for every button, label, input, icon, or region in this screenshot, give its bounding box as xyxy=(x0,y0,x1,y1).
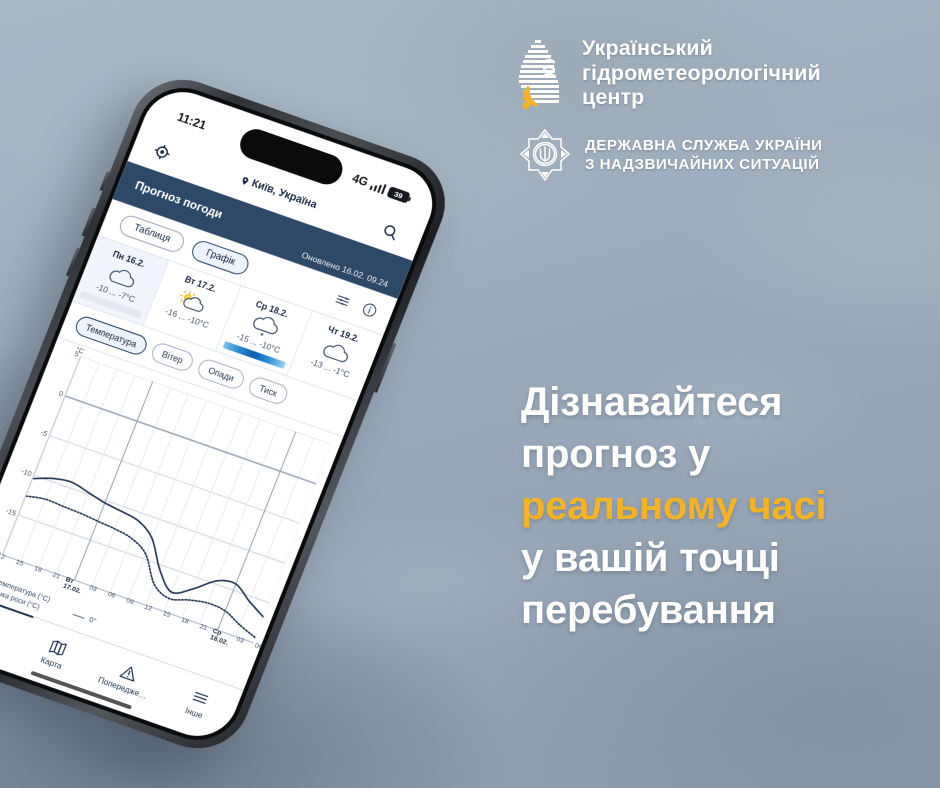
chip-pressure[interactable]: Тиск xyxy=(246,375,290,407)
warning-icon xyxy=(117,662,140,684)
info-circle-icon[interactable] xyxy=(360,300,380,319)
chip-precipitation[interactable]: Опади xyxy=(195,357,247,391)
x-tick-label: 18 xyxy=(180,617,190,626)
status-time: 11:21 xyxy=(175,111,207,132)
menu-icon xyxy=(189,687,212,709)
y-tick-label: -15 xyxy=(4,508,16,518)
org-title-line-2: гідрометеорологічний xyxy=(582,61,821,86)
y-tick-label: -10 xyxy=(20,468,32,478)
location-name: Київ, Україна xyxy=(250,177,319,211)
x-tick-label: 09 xyxy=(125,597,135,606)
marketing-headline: Дізнавайтеся прогноз у реальному часі у … xyxy=(521,376,933,636)
sliders-icon[interactable] xyxy=(333,291,353,310)
org-title: Український гідрометеорологічний центр xyxy=(582,36,821,110)
agency-line-1: ДЕРЖАВНА СЛУЖБА УКРАЇНИ xyxy=(585,137,823,156)
signal-strength-icon xyxy=(369,180,386,194)
headline-line-4: у вашій точці xyxy=(521,532,933,584)
network-type-label: 4G xyxy=(350,173,369,190)
headline-line-1: Дізнавайтеся xyxy=(521,376,933,428)
x-tick-label: 06 xyxy=(106,591,116,600)
x-tick-label: 12 xyxy=(143,604,153,613)
chip-wind[interactable]: Вітер xyxy=(149,341,196,374)
headline-line-5: перебування xyxy=(521,584,933,636)
uhmc-logo xyxy=(519,38,567,114)
agency-line-2: З НАДЗВИЧАЙНИХ СИТУАЦІЙ xyxy=(585,156,823,175)
org-title-line-3: центр xyxy=(582,85,821,110)
map-pin-icon xyxy=(238,174,251,187)
map-icon xyxy=(46,637,69,659)
search-icon[interactable] xyxy=(379,221,402,243)
legend-item-zero: 0° xyxy=(72,611,97,626)
x-tick-label: 21 xyxy=(198,623,208,632)
headline-line-3-accent: реальному часі xyxy=(521,480,933,532)
zero-line-swatch xyxy=(73,614,85,619)
x-tick-label: 15 xyxy=(162,610,172,619)
uhmc-brand-row: Український гідрометеорологічний центр xyxy=(519,36,919,114)
agency-name: ДЕРЖАВНА СЛУЖБА УКРАЇНИ З НАДЗВИЧАЙНИХ С… xyxy=(585,137,823,174)
dsns-brand-row: ДЕРЖАВНА СЛУЖБА УКРАЇНИ З НАДЗВИЧАЙНИХ С… xyxy=(519,128,919,184)
x-tick-label: 03 xyxy=(88,584,98,593)
tool-icons xyxy=(333,291,380,320)
crosshair-icon[interactable] xyxy=(151,141,174,163)
dsns-emblem xyxy=(519,128,571,184)
battery-icon: 39 xyxy=(387,186,411,204)
legend-label: 0° xyxy=(88,617,97,626)
nav-label: Інше xyxy=(184,706,204,720)
x-tick-label: 21 xyxy=(51,572,61,581)
x-tick-label: 18 xyxy=(33,565,43,574)
x-tick-label: 12 xyxy=(0,552,6,561)
x-tick-label: 06 xyxy=(253,642,263,651)
x-tick-label: 03 xyxy=(235,636,245,645)
org-title-line-1: Український xyxy=(582,36,821,61)
branding-block: Український гідрометеорологічний центр xyxy=(519,36,919,184)
x-tick-label: 15 xyxy=(15,559,25,568)
headline-line-2: прогноз у xyxy=(521,428,933,480)
